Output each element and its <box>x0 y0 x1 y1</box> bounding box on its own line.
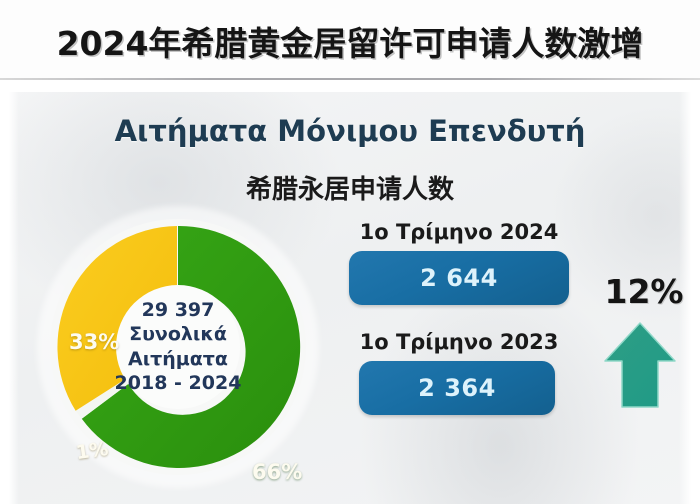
growth-percentage: 12% <box>601 272 687 311</box>
arrow-up-icon <box>601 319 679 411</box>
quarter-2023-block: 1ο Τρίμηνο 2023 2 364 <box>349 330 569 415</box>
quarter-2024-value: 2 644 <box>420 264 498 292</box>
chart-title-greek: Αιτήματα Μόνιμου Επενδυτή <box>9 114 691 148</box>
quarter-2023-label: 1ο Τρίμηνο 2023 <box>349 330 569 354</box>
donut-chart: 29 397 Συνολικά Αιτήματα 2018 - 2024 33%… <box>43 212 313 482</box>
headline-divider <box>0 78 700 80</box>
infographic-screenshot: 2024年希腊黄金居留许可申请人数激增 Αιτήματα Μόνιμου Επε… <box>0 0 700 504</box>
chart-subtitle-chinese: 希腊永居申请人数 <box>9 169 691 206</box>
quarter-2023-value-box: 2 364 <box>359 361 555 415</box>
panel-left-fade <box>9 92 19 504</box>
headline-band: 2024年希腊黄金居留许可申请人数激增 <box>0 0 700 79</box>
quarter-2023-value: 2 364 <box>418 374 496 402</box>
infographic-panel: Αιτήματα Μόνιμου Επενδυτή 希腊永居申请人数 <box>9 92 691 504</box>
quarter-2024-label: 1ο Τρίμηνο 2024 <box>349 220 569 244</box>
growth-indicator: 12% <box>601 272 687 411</box>
donut-hole <box>116 285 240 409</box>
page-title: 2024年希腊黄金居留许可申请人数激增 <box>0 17 700 65</box>
quarter-2024-block: 1ο Τρίμηνο 2024 2 644 <box>349 220 569 305</box>
quarter-2024-value-box: 2 644 <box>349 251 569 305</box>
donut-svg <box>43 212 313 482</box>
